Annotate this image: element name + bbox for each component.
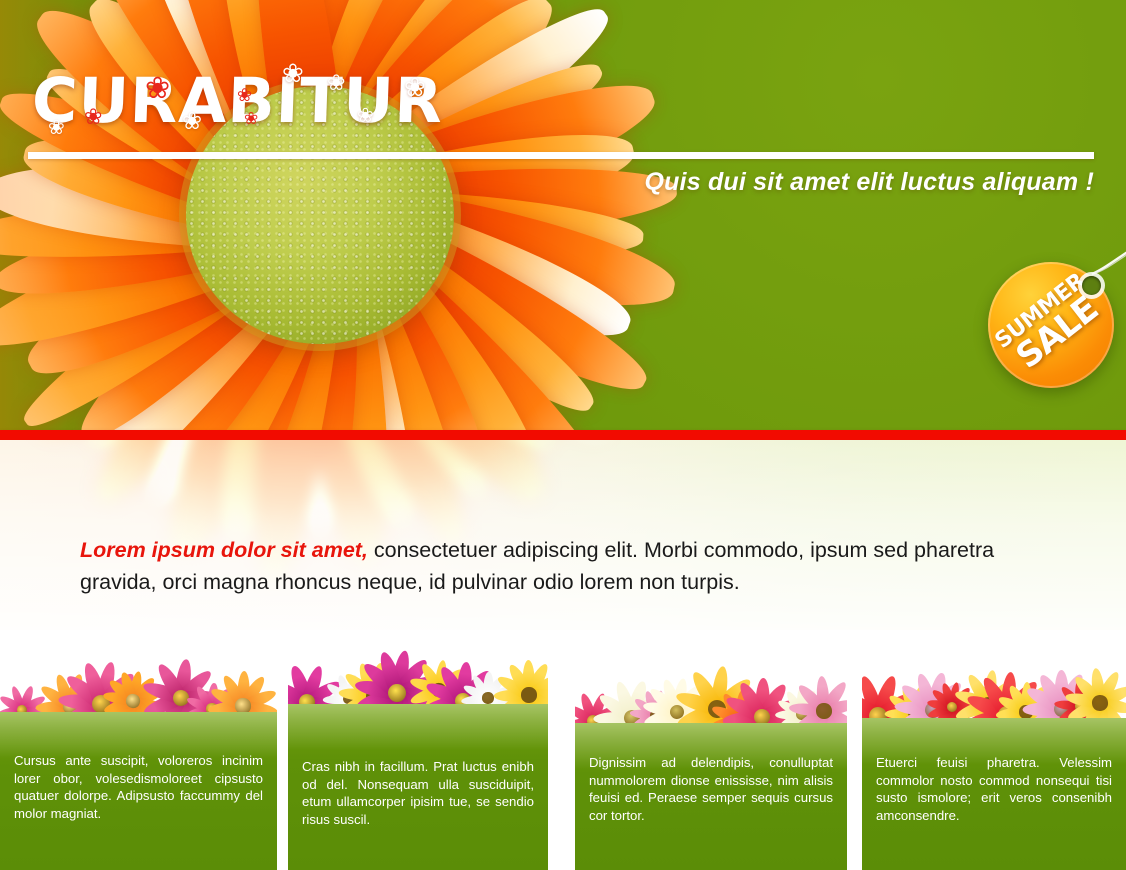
feature-card[interactable]: Cursus ante suscipit, voloreros incinim … [0, 630, 277, 870]
card-body-text: Etuerci feuisi pharetra. Velessim commol… [876, 754, 1112, 824]
tag-hole-icon [1082, 276, 1101, 295]
hero-tagline: Quis dui sit amet elit luctus aliquam ! [644, 168, 1094, 197]
summer-sale-badge[interactable]: SUMMER SALE [988, 262, 1114, 388]
red-divider-band [0, 430, 1126, 440]
card-body-text: Cursus ante suscipit, voloreros incinim … [14, 752, 263, 822]
card-green-gloss [288, 704, 548, 750]
logo-text: CURABITUR [30, 58, 463, 144]
intro-paragraph: Lorem ipsum dolor sit amet, consectetuer… [80, 534, 1065, 598]
feature-card[interactable]: Etuerci feuisi pharetra. Velessim commol… [862, 630, 1126, 870]
card-flower-center [522, 687, 537, 702]
feature-card[interactable]: Cras nibh in facillum. Prat luctus enibh… [288, 630, 548, 870]
feature-card-row: Cursus ante suscipit, voloreros incinim … [0, 630, 1126, 870]
site-logo[interactable]: CURABITUR ❀ ❀ ❀ ❀ ❀ ❀ ❀ ❀ ❀ ❀ [32, 58, 462, 144]
hero-banner: CURABITUR ❀ ❀ ❀ ❀ ❀ ❀ ❀ ❀ ❀ ❀ Quis dui s… [0, 0, 1126, 432]
card-flower-center [816, 703, 832, 719]
intro-lead-text: Lorem ipsum dolor sit amet, [80, 538, 368, 562]
page-root: CURABITUR ❀ ❀ ❀ ❀ ❀ ❀ ❀ ❀ ❀ ❀ Quis dui s… [0, 0, 1126, 870]
card-body-text: Cras nibh in facillum. Prat luctus enibh… [302, 758, 534, 828]
card-flower-center [125, 693, 140, 708]
feature-card[interactable]: Dignissim ad delendipis, conulluptat num… [575, 630, 847, 870]
card-body-text: Dignissim ad delendipis, conulluptat num… [589, 754, 833, 824]
sale-badge-circle: SUMMER SALE [988, 262, 1114, 388]
card-flower-center [482, 692, 494, 704]
header-divider-rule [28, 152, 1094, 159]
